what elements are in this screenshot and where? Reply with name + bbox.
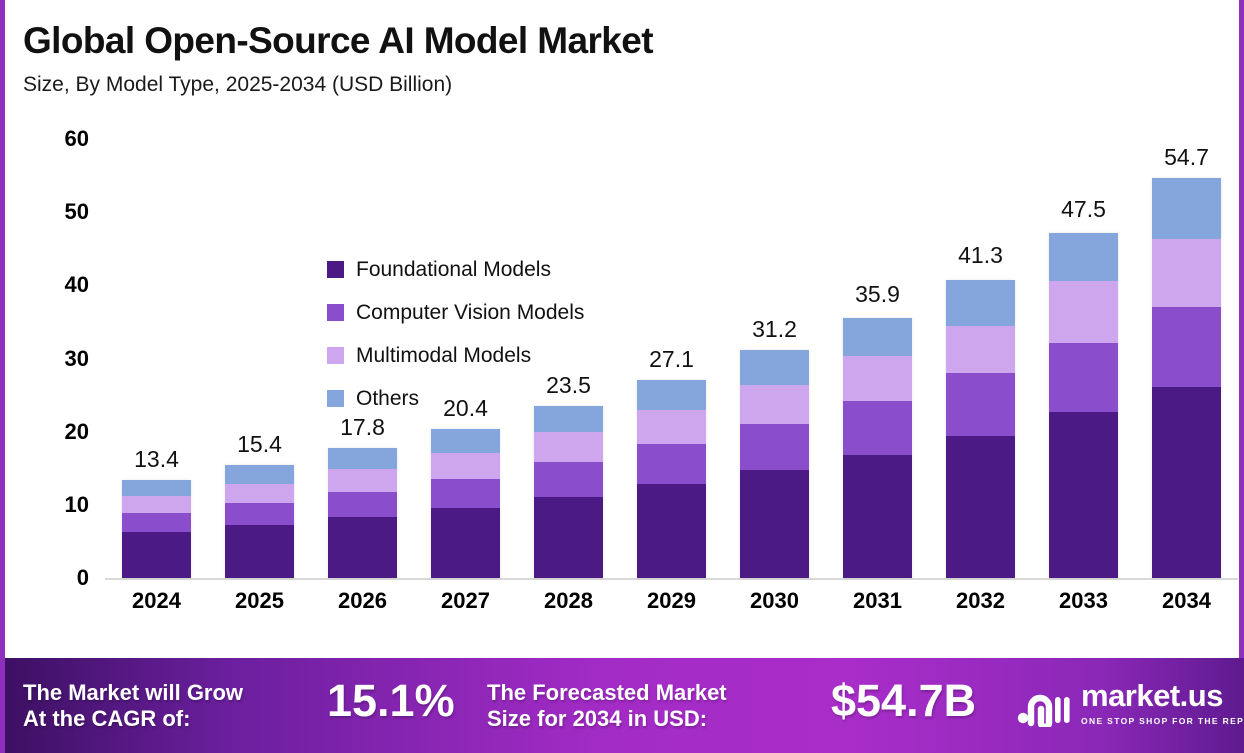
bar-segment — [1152, 239, 1221, 307]
bar-segment — [225, 484, 294, 504]
bar-segment — [225, 525, 294, 578]
bar-group-2034[interactable]: 54.72034 — [1135, 120, 1238, 578]
cagr-value: 15.1% — [327, 674, 455, 727]
legend-item-1[interactable]: Computer Vision Models — [327, 291, 584, 334]
bar-group-2032[interactable]: 41.32032 — [929, 120, 1032, 578]
stacked-bar[interactable] — [946, 280, 1015, 578]
y-axis-tick: 20 — [43, 419, 89, 445]
legend-swatch-icon — [327, 304, 344, 321]
bar-segment — [1152, 178, 1221, 239]
stacked-bar[interactable] — [637, 380, 706, 578]
bar-segment — [431, 508, 500, 578]
bar-segment — [843, 318, 912, 357]
market-us-logo-icon — [1017, 683, 1073, 727]
bar-total-label: 47.5 — [1032, 196, 1135, 223]
forecast-size-value: $54.7B — [831, 674, 976, 727]
bar-segment — [1049, 233, 1118, 281]
y-axis-tick: 40 — [43, 272, 89, 298]
logo-name: market.us — [1081, 678, 1223, 713]
forecast-size-label-line2: Size for 2034 in USD: — [487, 706, 727, 732]
bar-segment — [328, 469, 397, 492]
chart-legend: Foundational ModelsComputer Vision Model… — [327, 248, 584, 420]
page-title: Global Open-Source AI Model Market — [23, 20, 653, 62]
bar-segment — [946, 436, 1015, 578]
legend-swatch-icon — [327, 261, 344, 278]
stacked-bar[interactable] — [1152, 178, 1221, 578]
bar-group-2033[interactable]: 47.52033 — [1032, 120, 1135, 578]
stacked-bar[interactable] — [843, 318, 912, 578]
bar-segment — [740, 470, 809, 578]
stacked-bar[interactable] — [328, 448, 397, 578]
legend-swatch-icon — [327, 347, 344, 364]
stacked-bar[interactable] — [122, 480, 191, 578]
forecast-size-label: The Forecasted Market Size for 2034 in U… — [487, 680, 727, 732]
bar-segment — [122, 480, 191, 496]
x-axis-tick: 2031 — [826, 588, 929, 614]
bar-segment — [328, 517, 397, 578]
bar-group-2029[interactable]: 27.12029 — [620, 120, 723, 578]
x-axis-tick: 2030 — [723, 588, 826, 614]
footer-banner: The Market will Grow At the CAGR of: 15.… — [5, 658, 1244, 753]
bar-segment — [1152, 387, 1221, 578]
bar-total-label: 15.4 — [208, 431, 311, 458]
bar-segment — [225, 465, 294, 483]
stacked-bar[interactable] — [431, 429, 500, 578]
cagr-label-line1: The Market will Grow — [23, 680, 243, 706]
y-axis-tick: 10 — [43, 492, 89, 518]
y-axis-tick: 0 — [43, 565, 89, 591]
bar-segment — [225, 503, 294, 524]
bar-segment — [637, 484, 706, 578]
bar-total-label: 41.3 — [929, 242, 1032, 269]
x-axis-tick: 2026 — [311, 588, 414, 614]
legend-item-3[interactable]: Others — [327, 377, 584, 420]
bar-segment — [431, 453, 500, 479]
y-axis-tick: 50 — [43, 199, 89, 225]
bar-segment — [1049, 281, 1118, 343]
forecast-size-label-line1: The Forecasted Market — [487, 680, 727, 706]
bar-segment — [946, 326, 1015, 373]
bar-segment — [1049, 343, 1118, 412]
bar-segment — [637, 410, 706, 444]
bar-total-label: 35.9 — [826, 281, 929, 308]
bar-total-label: 13.4 — [105, 446, 208, 473]
legend-item-2[interactable]: Multimodal Models — [327, 334, 584, 377]
bar-segment — [946, 280, 1015, 326]
bar-segment — [534, 497, 603, 578]
x-axis-tick: 2029 — [620, 588, 723, 614]
bar-segment — [637, 444, 706, 484]
bar-segment — [843, 401, 912, 455]
bar-group-2031[interactable]: 35.92031 — [826, 120, 929, 578]
bar-segment — [1152, 307, 1221, 387]
bar-group-2030[interactable]: 31.22030 — [723, 120, 826, 578]
y-axis-tick: 30 — [43, 346, 89, 372]
bar-segment — [946, 373, 1015, 436]
bar-segment — [1049, 412, 1118, 578]
bar-segment — [122, 496, 191, 513]
x-axis-tick: 2033 — [1032, 588, 1135, 614]
bar-segment — [637, 380, 706, 410]
bar-segment — [534, 432, 603, 462]
y-axis-tick: 60 — [43, 126, 89, 152]
bars-container: 13.4202415.4202517.8202620.4202723.52028… — [105, 120, 1238, 578]
legend-item-label: Others — [356, 387, 419, 411]
bar-segment — [534, 462, 603, 496]
bar-segment — [328, 448, 397, 469]
market-us-logo[interactable]: market.us ONE STOP SHOP FOR THE REPORTS — [1017, 680, 1244, 729]
bar-segment — [740, 350, 809, 385]
market-us-logo-text: market.us ONE STOP SHOP FOR THE REPORTS — [1081, 680, 1244, 729]
bar-total-label: 31.2 — [723, 316, 826, 343]
legend-item-label: Computer Vision Models — [356, 301, 584, 325]
x-axis-tick: 2032 — [929, 588, 1032, 614]
x-axis-tick: 2034 — [1135, 588, 1238, 614]
stacked-bar-chart: 0102030405060 13.4202415.4202517.8202620… — [5, 120, 1244, 640]
bar-segment — [431, 429, 500, 453]
bar-segment — [740, 385, 809, 425]
stacked-bar[interactable] — [534, 406, 603, 578]
bar-total-label: 27.1 — [620, 346, 723, 373]
legend-swatch-icon — [327, 390, 344, 407]
bar-segment — [740, 424, 809, 469]
cagr-label-line2: At the CAGR of: — [23, 706, 243, 732]
x-axis-tick: 2027 — [414, 588, 517, 614]
legend-item-label: Foundational Models — [356, 258, 551, 282]
stacked-bar[interactable] — [1049, 233, 1118, 578]
bar-segment — [843, 356, 912, 401]
logo-tagline: ONE STOP SHOP FOR THE REPORTS — [1081, 716, 1244, 726]
legend-item-label: Multimodal Models — [356, 344, 531, 368]
legend-item-0[interactable]: Foundational Models — [327, 248, 584, 291]
cagr-label: The Market will Grow At the CAGR of: — [23, 680, 243, 732]
bar-segment — [431, 479, 500, 508]
bar-segment — [843, 455, 912, 578]
infographic-frame: Global Open-Source AI Model Market Size,… — [0, 0, 1244, 753]
page-subtitle: Size, By Model Type, 2025-2034 (USD Bill… — [23, 73, 452, 97]
stacked-bar[interactable] — [740, 350, 809, 578]
bar-group-2024[interactable]: 13.42024 — [105, 120, 208, 578]
bar-group-2025[interactable]: 15.42025 — [208, 120, 311, 578]
x-axis-tick: 2024 — [105, 588, 208, 614]
x-axis-line — [105, 578, 1238, 580]
x-axis-tick: 2028 — [517, 588, 620, 614]
bar-segment — [328, 492, 397, 517]
bar-total-label: 54.7 — [1135, 144, 1238, 171]
stacked-bar[interactable] — [225, 465, 294, 578]
bar-segment — [122, 532, 191, 578]
x-axis-tick: 2025 — [208, 588, 311, 614]
bar-segment — [122, 513, 191, 532]
